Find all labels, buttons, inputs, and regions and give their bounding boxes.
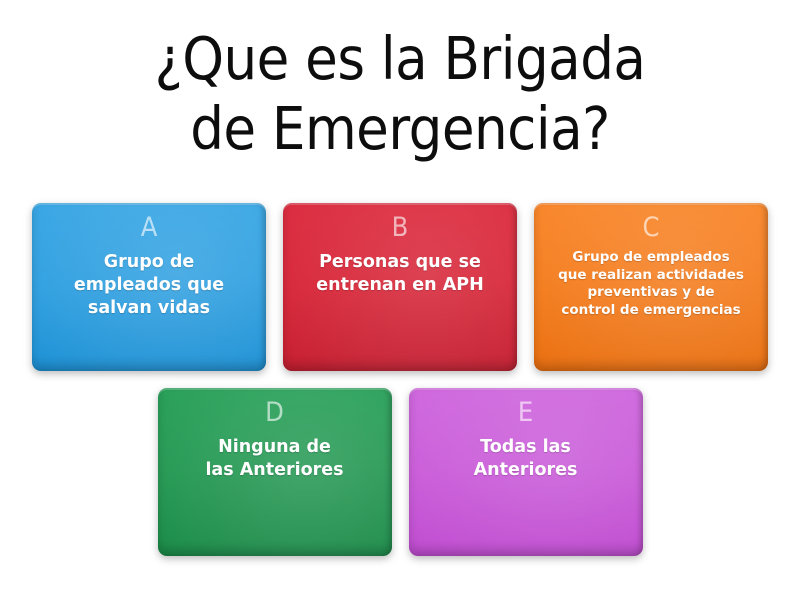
answer-row-top: A Grupo de empleados que salvan vidas B … — [0, 203, 800, 371]
answer-row-bottom: D Ninguna de las Anteriores E Todas las … — [0, 388, 800, 556]
answer-option-e[interactable]: E Todas las Anteriores — [409, 388, 643, 556]
answer-option-c[interactable]: C Grupo de empleados que realizan activi… — [534, 203, 768, 371]
answer-letter-b: B — [392, 211, 409, 245]
answer-letter-d: D — [265, 396, 284, 430]
answer-letter-e: E — [518, 396, 533, 430]
answer-text-b: Personas que se entrenan en APH — [293, 251, 507, 297]
answer-option-d[interactable]: D Ninguna de las Anteriores — [158, 388, 392, 556]
question-title: ¿Que es la Brigada de Emergencia? — [0, 24, 800, 164]
quiz-slide: ¿Que es la Brigada de Emergencia? A Grup… — [0, 0, 800, 600]
answer-text-a-wrap: Grupo de empleados que salvan vidas — [42, 245, 256, 359]
answer-letter-a: A — [141, 211, 158, 245]
answer-option-a[interactable]: A Grupo de empleados que salvan vidas — [32, 203, 266, 371]
answer-text-d: Ninguna de las Anteriores — [168, 436, 382, 482]
answer-text-c-wrap: Grupo de empleados que realizan activida… — [544, 245, 758, 359]
answer-letter-c: C — [643, 211, 660, 245]
answer-text-b-wrap: Personas que se entrenan en APH — [293, 245, 507, 359]
answer-option-b[interactable]: B Personas que se entrenan en APH — [283, 203, 517, 371]
answer-text-a: Grupo de empleados que salvan vidas — [42, 251, 256, 320]
answer-text-e: Todas las Anteriores — [419, 436, 633, 482]
answer-text-c: Grupo de empleados que realizan activida… — [544, 249, 758, 319]
answer-text-e-wrap: Todas las Anteriores — [419, 430, 633, 544]
answer-text-d-wrap: Ninguna de las Anteriores — [168, 430, 382, 544]
